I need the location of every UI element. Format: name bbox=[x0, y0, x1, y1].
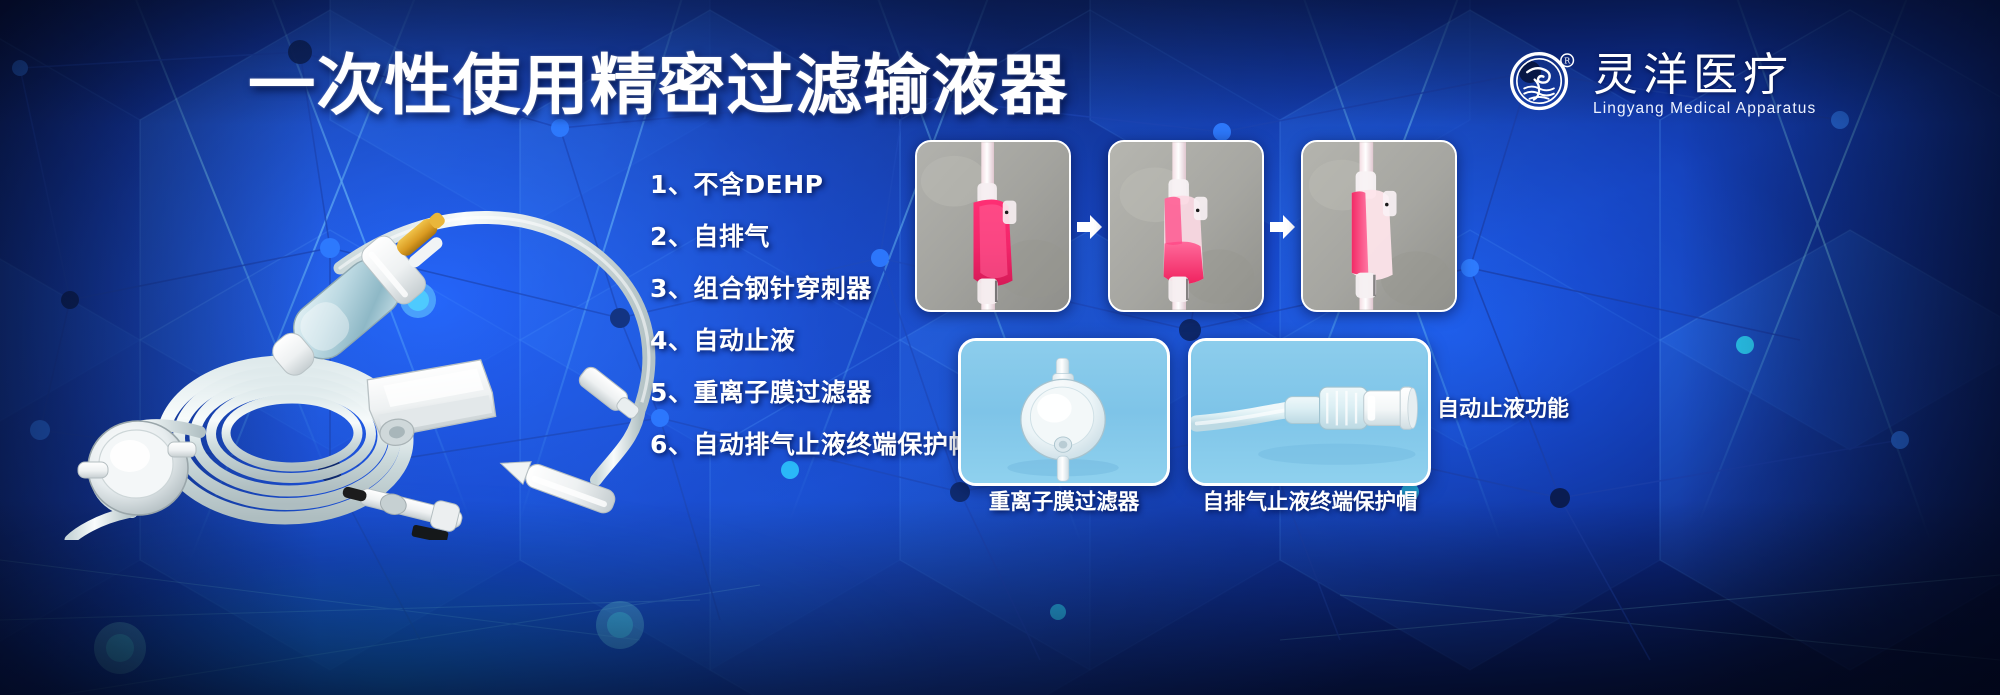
banner-root: 一次性使用精密过滤输液器 R 灵洋医疗 Lingyang Medical App… bbox=[0, 0, 2000, 695]
svg-text:R: R bbox=[1564, 55, 1571, 65]
right-arrow-icon bbox=[1268, 214, 1296, 240]
brand-logo: R 灵洋医疗 Lingyang Medical Apparatus bbox=[1505, 42, 1915, 126]
step-photo-2 bbox=[1108, 140, 1264, 312]
auto-stop-step-sequence bbox=[915, 140, 1915, 315]
page-title: 一次性使用精密过滤输液器 bbox=[248, 48, 1054, 124]
step-photo-3 bbox=[1301, 140, 1457, 312]
hero-product-photo bbox=[40, 140, 680, 540]
brand-name-cn: 灵洋医疗 bbox=[1593, 51, 1816, 99]
step-photo-1 bbox=[915, 140, 1071, 312]
list-item: 4、自动止液 bbox=[650, 326, 980, 378]
product-photo-protective-cap bbox=[1188, 338, 1431, 486]
list-item: 6、自动排气止液终端保护帽 bbox=[650, 430, 980, 482]
brand-text-block: 灵洋医疗 Lingyang Medical Apparatus bbox=[1593, 49, 1816, 119]
list-item: 5、重离子膜过滤器 bbox=[650, 378, 980, 430]
product-photo-filter bbox=[958, 338, 1170, 486]
brand-name-en: Lingyang Medical Apparatus bbox=[1593, 99, 1816, 119]
lingyang-wave-emblem-icon: R bbox=[1505, 47, 1579, 121]
product-caption-protective-cap: 自排气止液终端保护帽 bbox=[1165, 489, 1455, 517]
right-arrow-icon bbox=[1075, 214, 1103, 240]
